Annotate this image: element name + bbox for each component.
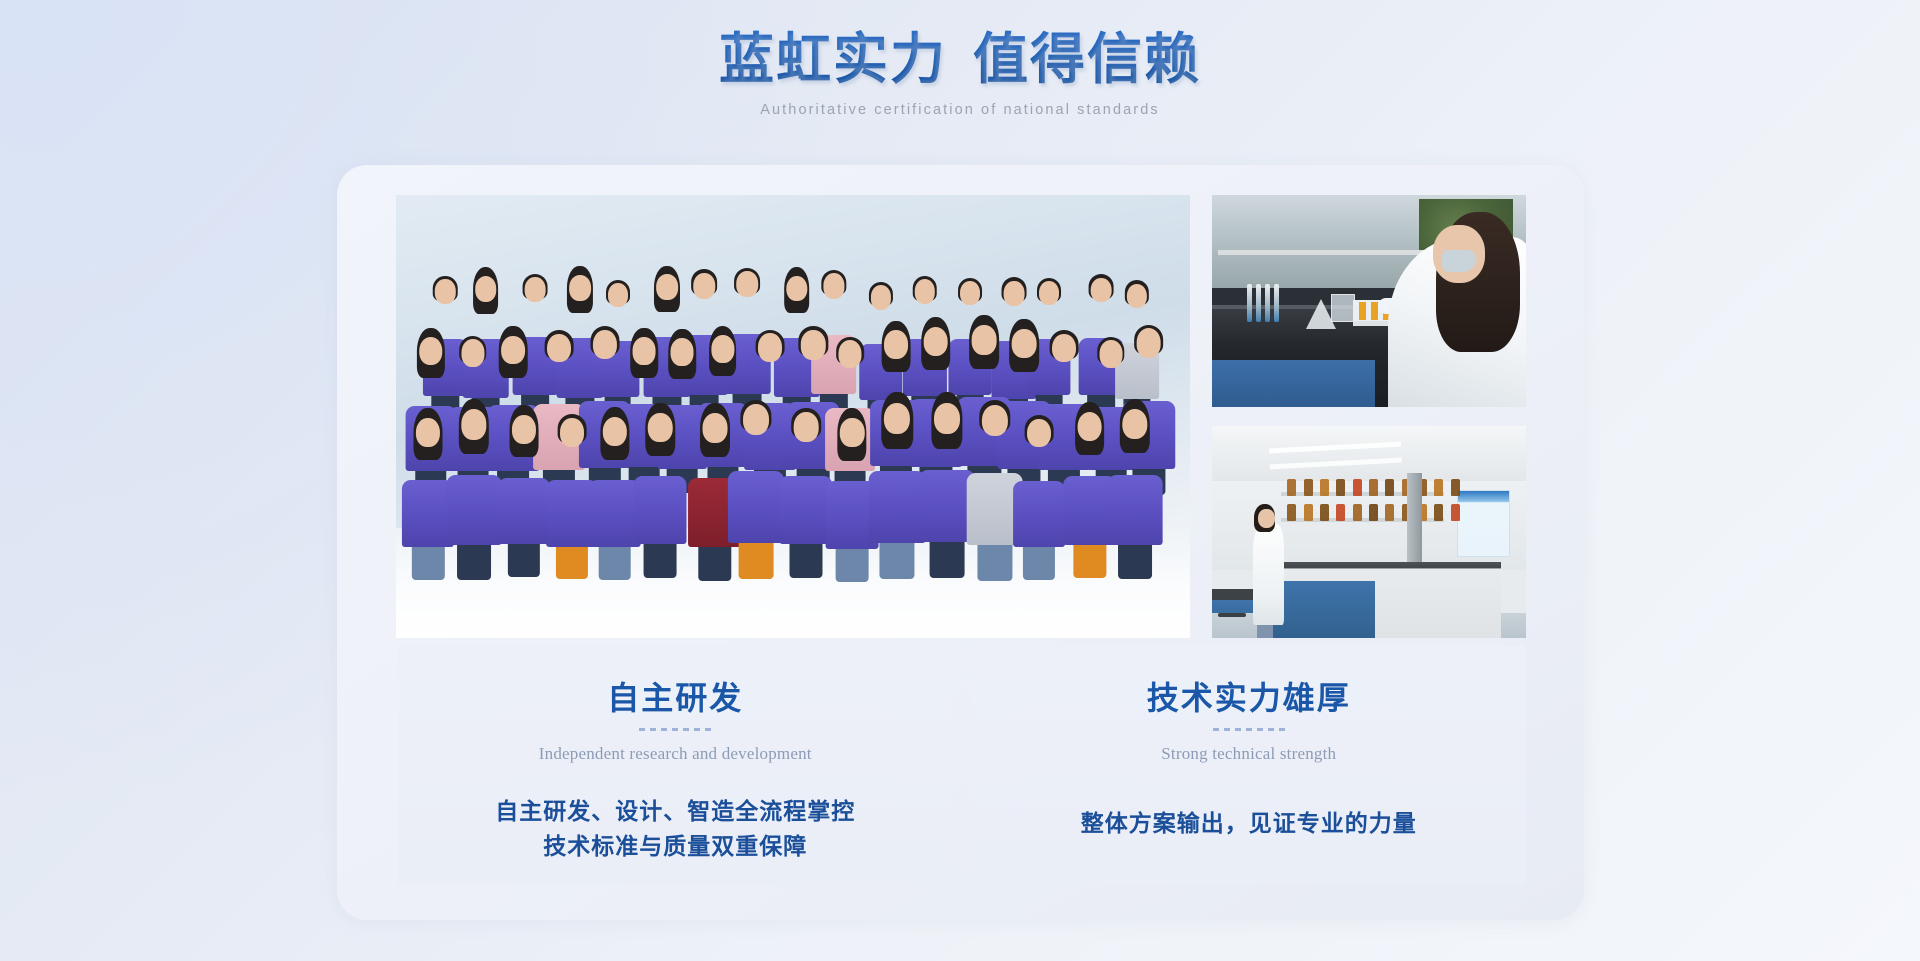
reagent-bottle [1304, 479, 1313, 496]
member-head [884, 330, 908, 359]
member-head [1127, 284, 1147, 308]
bench-cabinet [1212, 360, 1375, 407]
member-legs [556, 541, 588, 579]
card-description: 自主研发、设计、智造全流程掌控 技术标准与质量双重保障 [398, 794, 953, 865]
member-head [794, 412, 819, 442]
page-header: 蓝虹实力值得信赖 Authoritative certification of … [0, 0, 1920, 118]
face-mask [1442, 250, 1476, 272]
page-title-part1: 蓝虹实力 [719, 29, 947, 90]
beaker [1331, 294, 1355, 322]
feature-card-rd[interactable]: 自主研发 Independent research and developmen… [398, 645, 953, 885]
member-head [593, 330, 617, 359]
reagent-bottle [1385, 504, 1394, 521]
member-head [786, 276, 807, 302]
reagent-bottle [1304, 504, 1313, 521]
member-head [656, 274, 678, 300]
member-head [758, 333, 782, 362]
dotted-divider [972, 728, 1527, 731]
member-legs [644, 538, 677, 577]
member-head [1052, 334, 1076, 363]
reagent-bottle [1369, 504, 1378, 521]
reagent-bottle [1353, 479, 1362, 496]
reagent-bottle [1336, 479, 1345, 496]
reagent-bottle [1451, 504, 1460, 521]
member-head [525, 277, 546, 302]
researcher-head [1258, 509, 1275, 528]
member-head [461, 339, 484, 367]
page-title-part2: 值得信赖 [973, 29, 1201, 90]
reagent-bottle [1385, 479, 1394, 496]
member-head [547, 334, 571, 363]
content-panel: 自主研发 Independent research and developmen… [337, 165, 1584, 920]
card-title: 自主研发 [398, 673, 953, 719]
member-head [1039, 281, 1059, 305]
card-title: 技术实力雄厚 [972, 673, 1527, 719]
member-uniform [1013, 481, 1065, 547]
card-description-line2: 技术标准与质量双重保障 [398, 829, 953, 865]
member-head [475, 276, 497, 302]
team-members-group [396, 266, 1190, 586]
card-subtitle-en: Independent research and development [398, 744, 953, 764]
member-head [801, 330, 825, 359]
dotted-divider [398, 728, 953, 731]
member-head [1099, 340, 1122, 367]
member-head [569, 275, 591, 301]
member-head [884, 403, 910, 434]
card-description-line1: 整体方案输出，见证专业的力量 [972, 806, 1527, 842]
member-head [461, 409, 486, 439]
reagent-bottle [1320, 479, 1329, 496]
reagent-bottle [1434, 479, 1443, 496]
reagent-bottle [1451, 479, 1460, 496]
page-title: 蓝虹实力值得信赖 [719, 28, 1201, 93]
member-head [512, 415, 536, 444]
member-head [435, 279, 455, 304]
member-head [840, 418, 864, 447]
member-head [1012, 329, 1037, 359]
lab-technician-photo [1212, 195, 1526, 407]
side-photo-column [1212, 195, 1526, 638]
team-member [869, 392, 926, 579]
member-head [838, 340, 861, 368]
member-uniform [728, 471, 784, 543]
member-head [823, 273, 844, 298]
member-head [671, 338, 694, 366]
lab-room-photo [1212, 426, 1526, 638]
member-uniform [779, 476, 832, 544]
member-legs [789, 539, 822, 578]
member-head [1004, 281, 1025, 306]
member-head [1091, 278, 1112, 303]
member-head [602, 417, 626, 446]
member-head [934, 403, 960, 434]
lab-stool [1218, 613, 1246, 617]
member-legs [880, 537, 915, 579]
member-head [923, 327, 948, 357]
member-head [648, 413, 673, 442]
member-uniform [634, 476, 687, 544]
lab-ceiling [1212, 426, 1526, 481]
team-member [728, 394, 784, 579]
team-member [1013, 409, 1065, 580]
member-uniform [447, 475, 502, 545]
feature-cards: 自主研发 Independent research and developmen… [398, 645, 1526, 885]
member-head [972, 325, 997, 355]
card-description-line1: 自主研发、设计、智造全流程掌控 [398, 794, 953, 830]
feature-card-tech[interactable]: 技术实力雄厚 Strong technical strength 整体方案输出，… [972, 645, 1527, 885]
reagent-bottle [1287, 504, 1296, 521]
reagent-bottle [1336, 504, 1345, 521]
team-member [1108, 399, 1163, 579]
reagent-bottle [1434, 504, 1443, 521]
member-uniform [498, 478, 550, 545]
member-head [501, 336, 525, 365]
member-legs [698, 541, 731, 581]
member-head [1122, 409, 1147, 439]
member-head [736, 271, 758, 297]
member-head [633, 337, 656, 364]
member-uniform [1108, 475, 1163, 545]
member-head [416, 418, 440, 447]
team-member [447, 399, 502, 579]
member-legs [1118, 539, 1152, 580]
member-head [702, 413, 727, 443]
member-head [608, 283, 628, 307]
member-head [419, 337, 443, 365]
reagent-bottle [1353, 504, 1362, 521]
safety-poster [1457, 490, 1510, 558]
member-head [694, 273, 715, 299]
member-legs [598, 541, 631, 580]
member-head [914, 279, 934, 304]
member-head [871, 285, 891, 309]
island-cabinet [1272, 581, 1376, 638]
card-subtitle-en: Strong technical strength [972, 744, 1527, 764]
reagent-bottle [1369, 479, 1378, 496]
card-description: 整体方案输出，见证专业的力量 [972, 806, 1527, 842]
member-head [981, 405, 1007, 436]
member-head [1027, 419, 1051, 448]
reagent-bottle [1287, 479, 1296, 496]
team-group-photo [396, 195, 1190, 638]
team-member [498, 405, 550, 577]
pipette-rack [1247, 284, 1279, 322]
reagent-bottle [1320, 504, 1329, 521]
member-head [1077, 412, 1102, 442]
team-member [779, 402, 832, 578]
researcher-coat [1253, 524, 1284, 626]
team-member [634, 403, 687, 578]
member-head [711, 335, 734, 363]
photo-gallery [396, 195, 1526, 638]
page-subtitle: Authoritative certification of national … [0, 102, 1920, 118]
member-legs [1073, 539, 1106, 579]
member-head [743, 404, 769, 435]
member-legs [457, 539, 491, 580]
member-head [560, 418, 584, 447]
member-legs [977, 539, 1012, 581]
member-uniform [869, 471, 926, 543]
member-head [960, 281, 980, 305]
member-legs [1023, 541, 1055, 579]
member-head [1136, 328, 1161, 358]
